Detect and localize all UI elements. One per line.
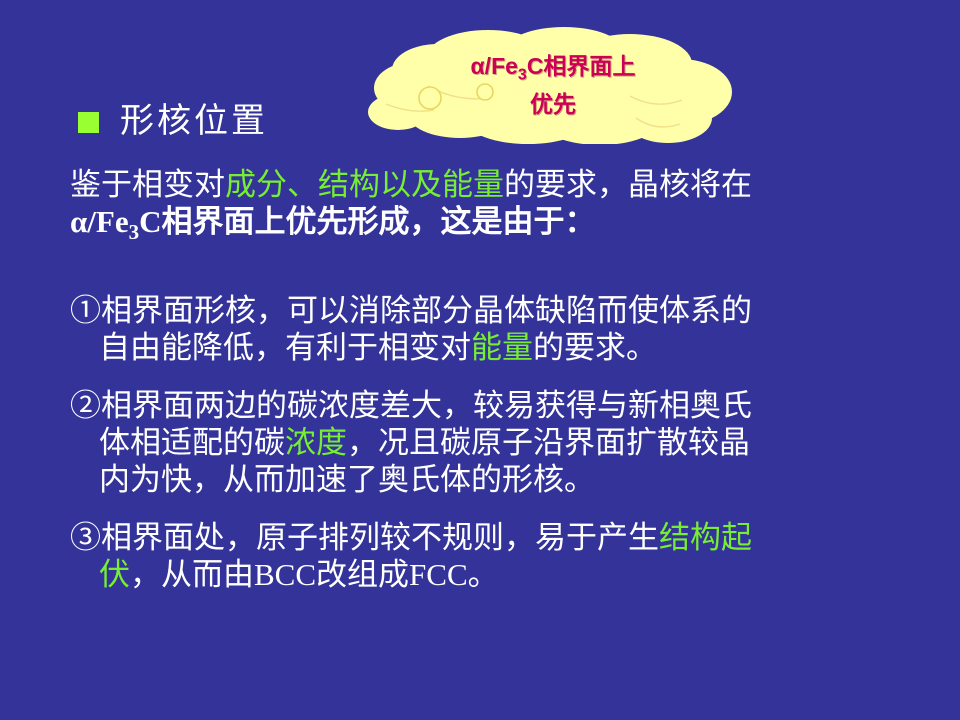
item-text: 自由能降低，有利于相变对 xyxy=(99,330,471,365)
item-text: 的要求。 xyxy=(533,330,657,365)
cloud-text-line-2: 优先 xyxy=(368,90,738,118)
lead-line-2-formula-pre: α/Fe xyxy=(70,204,129,239)
spacer xyxy=(70,498,930,519)
item-text: 内为快，从而加速了奥氏体的形核。 xyxy=(99,462,595,497)
thought-cloud-callout: α/Fe3C相界面上优先 xyxy=(368,26,738,144)
slide-canvas: α/Fe3C相界面上优先 形核位置 鉴于相变对成分、结构以及能量的要求，晶核将在… xyxy=(0,0,960,720)
item-marker: ② xyxy=(70,388,101,423)
item-text-highlight: 结构起 xyxy=(659,520,752,555)
spacer xyxy=(70,366,930,387)
cloud-callout-text: α/Fe3C相界面上优先 xyxy=(368,52,738,118)
lead-line-1: 鉴于相变对成分、结构以及能量的要求，晶核将在 xyxy=(70,166,930,203)
lead-line-2-formula-post: C相界面上优先形成，这是由于： xyxy=(139,204,595,239)
item-text: 体相适配的碳 xyxy=(99,425,285,460)
lead-line-1-highlight: 成分、结构以及能量 xyxy=(225,167,504,202)
item-text: ，况且碳原子沿界面扩散较晶 xyxy=(347,425,750,460)
numbered-item: ②相界面两边的碳浓度差大，较易获得与新相奥氏体相适配的碳浓度，况且碳原子沿界面扩… xyxy=(70,387,930,498)
section-heading-label: 形核位置 xyxy=(120,104,268,140)
cloud-text-line-1: α/Fe3C相界面上 xyxy=(368,52,738,90)
item-line: 内为快，从而加速了奥氏体的形核。 xyxy=(70,461,930,498)
item-text-highlight: 浓度 xyxy=(285,425,347,460)
body-content: 鉴于相变对成分、结构以及能量的要求，晶核将在 α/Fe3C相界面上优先形成，这是… xyxy=(70,166,930,593)
item-marker: ① xyxy=(70,293,101,328)
item-line: 伏，从而由BCC改组成FCC。 xyxy=(70,556,930,593)
item-line: ③相界面处，原子排列较不规则，易于产生结构起 xyxy=(70,519,930,556)
item-text: 相界面两边的碳浓度差大，较易获得与新相奥氏 xyxy=(101,388,752,423)
numbered-items: ①相界面形核，可以消除部分晶体缺陷而使体系的自由能降低，有利于相变对能量的要求。… xyxy=(70,292,930,593)
lead-line-1-pre: 鉴于相变对 xyxy=(70,167,225,202)
numbered-item: ①相界面形核，可以消除部分晶体缺陷而使体系的自由能降低，有利于相变对能量的要求。 xyxy=(70,292,930,366)
lead-line-2: α/Fe3C相界面上优先形成，这是由于： xyxy=(70,203,930,251)
item-line: ①相界面形核，可以消除部分晶体缺陷而使体系的 xyxy=(70,292,930,329)
item-text: 相界面处，原子排列较不规则，易于产生 xyxy=(101,520,659,555)
item-text-highlight: 能量 xyxy=(471,330,533,365)
item-text: ，从而由BCC改组成FCC。 xyxy=(130,557,499,592)
square-bullet-icon xyxy=(78,112,99,133)
lead-line-1-post: 的要求，晶核将在 xyxy=(504,167,752,202)
numbered-item: ③相界面处，原子排列较不规则，易于产生结构起伏，从而由BCC改组成FCC。 xyxy=(70,519,930,593)
lead-line-2-formula-sub: 3 xyxy=(129,220,140,244)
section-heading: 形核位置 xyxy=(78,104,268,140)
item-text: 相界面形核，可以消除部分晶体缺陷而使体系的 xyxy=(101,293,752,328)
lead-paragraph: 鉴于相变对成分、结构以及能量的要求，晶核将在 α/Fe3C相界面上优先形成，这是… xyxy=(70,166,930,251)
item-marker: ③ xyxy=(70,520,101,555)
spacer xyxy=(70,271,930,292)
item-text-highlight: 伏 xyxy=(99,557,130,592)
item-line: ②相界面两边的碳浓度差大，较易获得与新相奥氏 xyxy=(70,387,930,424)
item-line: 体相适配的碳浓度，况且碳原子沿界面扩散较晶 xyxy=(70,424,930,461)
item-line: 自由能降低，有利于相变对能量的要求。 xyxy=(70,329,930,366)
